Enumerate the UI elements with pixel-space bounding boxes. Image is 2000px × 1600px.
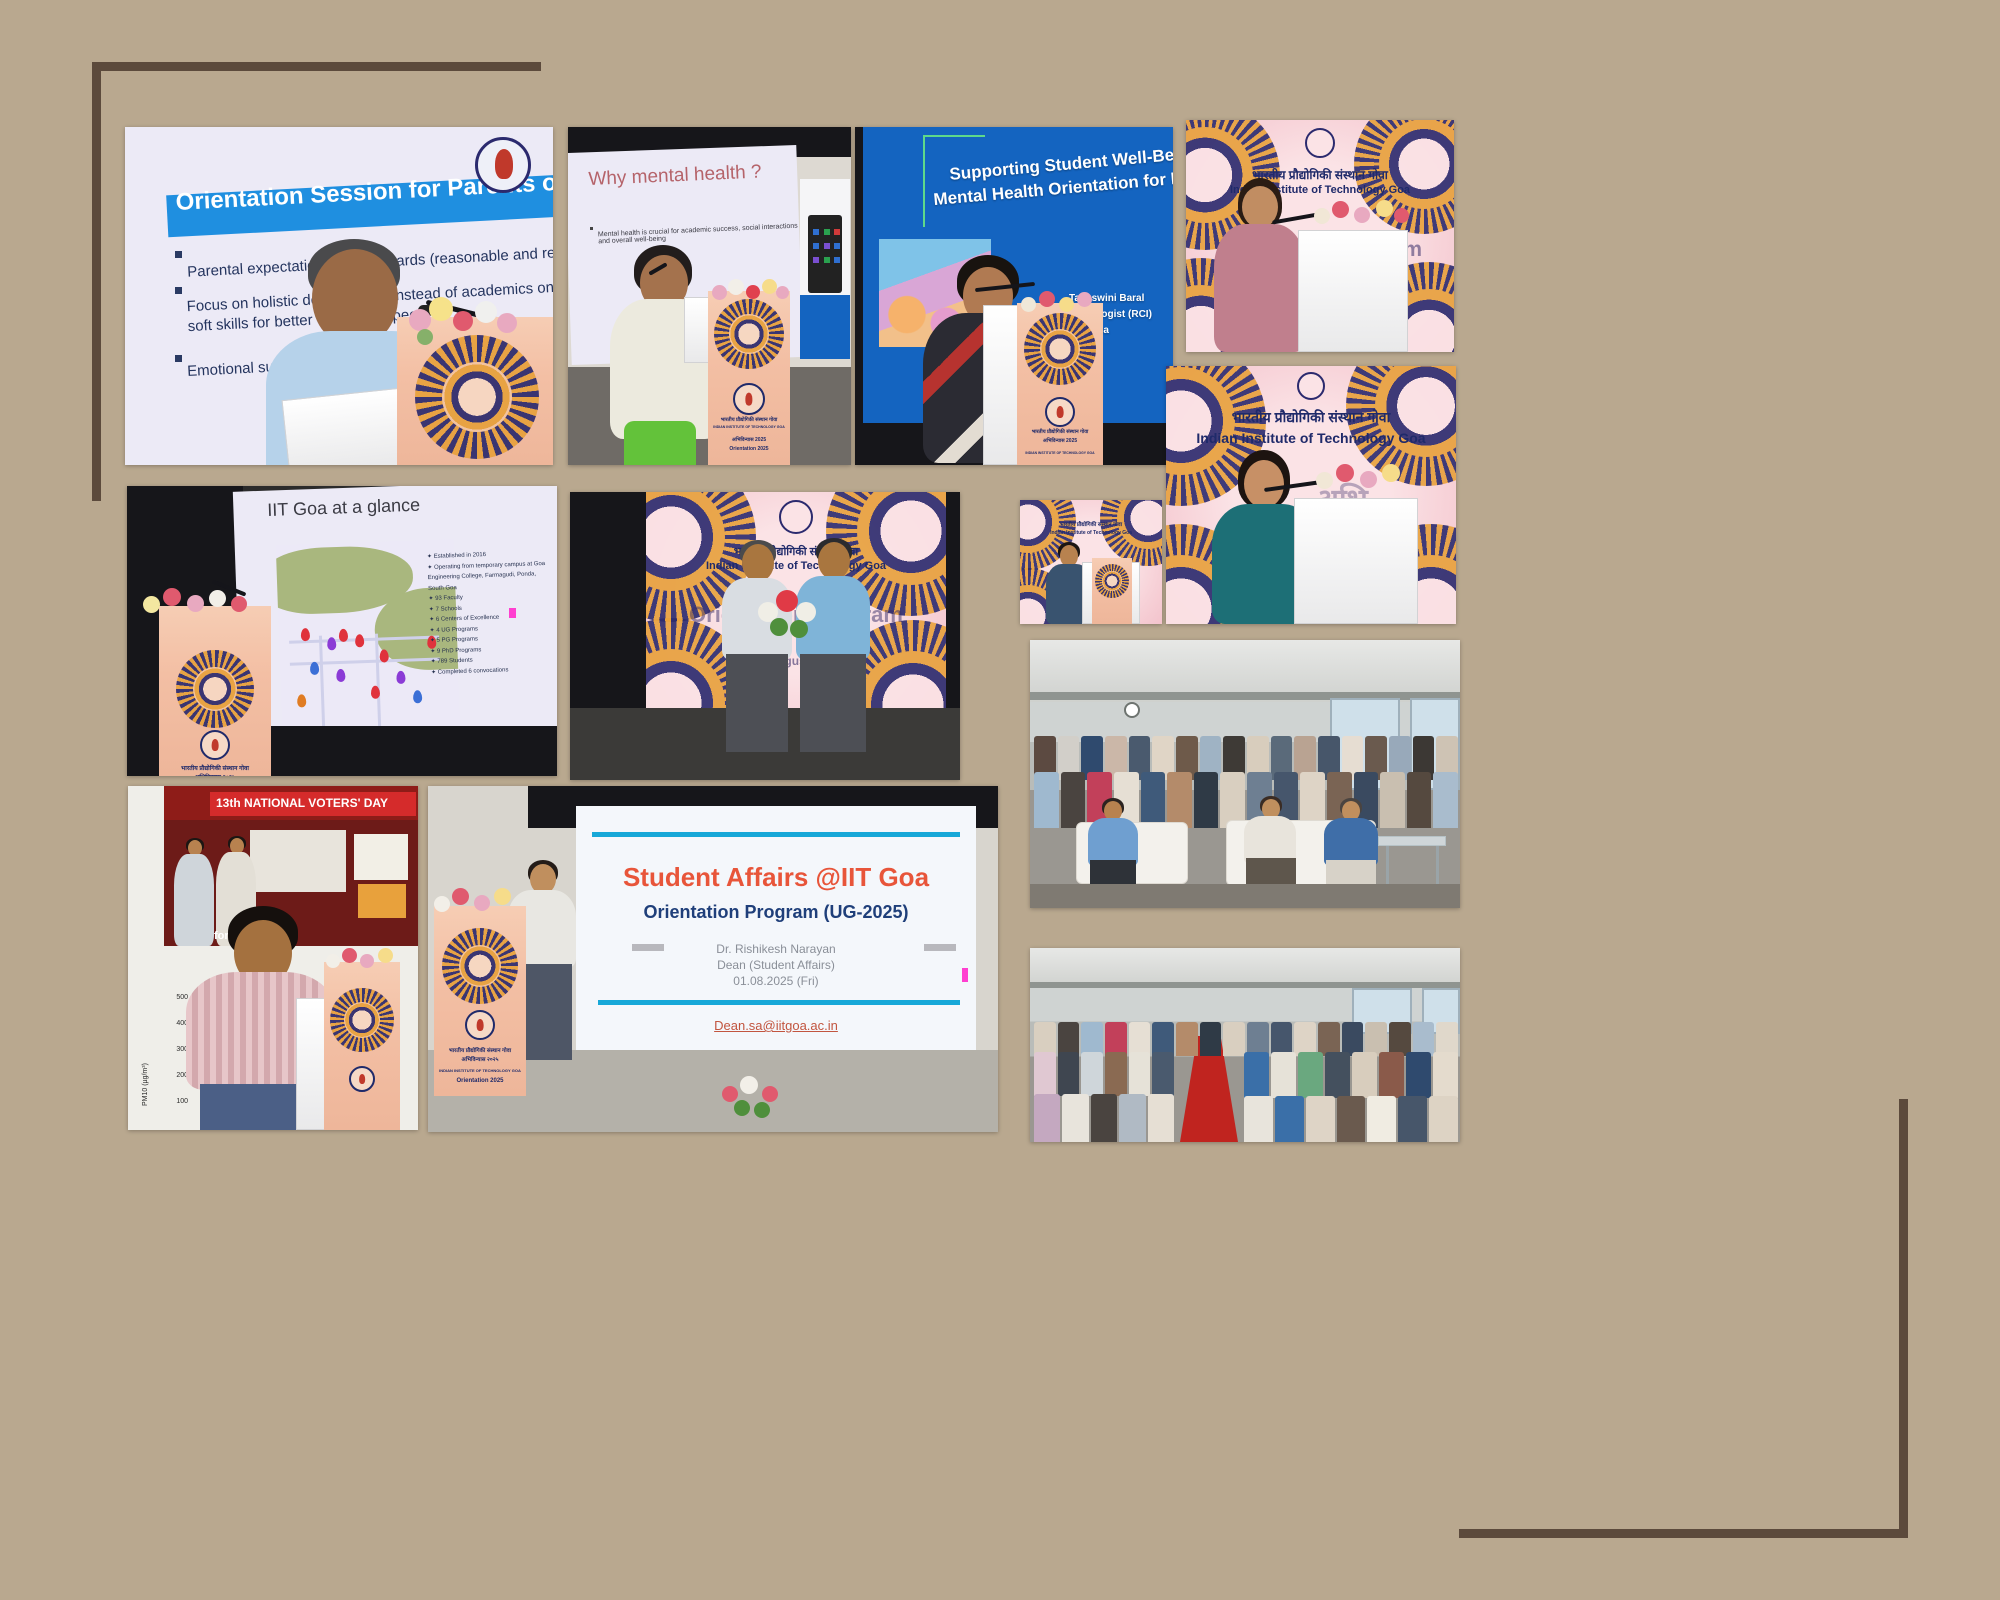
banner-line-hi: भारतीय प्रौद्योगिकी संस्थान गोवा [1017,429,1103,435]
banner-event-en: Orientation 2025 [434,1078,526,1084]
slide-heading: Student Affairs @IIT Goa [576,862,976,893]
banner-event-hi: अभिविन्यास 2025 [1017,438,1103,444]
flower-arrangement [1316,462,1416,494]
podium-banner: भारतीय प्रौद्योगिकी संस्थान गोवा अभिविन्… [434,906,526,1096]
institute-crest-icon [779,500,813,534]
chart-axis-label: PM10 (µg/m³) [142,1063,149,1106]
bouquet [758,588,818,640]
photo-voterbot[interactable]: 13th NATIONAL VOTERS' DAY for “VoterBot”… [128,786,418,1130]
presentation-date: 01.08.2025 (Fri) [576,974,976,988]
photo-iit-goa-at-a-glance[interactable]: IIT Goa at a glance ✦ Established in 201… [127,486,557,776]
stage-flower-vase [720,1076,790,1128]
backdrop-line-hi: भारतीय प्रौद्योगिकी संस्थान गोवा [1166,408,1456,427]
photo-mental-health-banner[interactable]: Supporting Student Well-Being: A Mental … [855,127,1173,465]
flower-arrangement [1019,289,1103,317]
banner-line-hi: भारतीय प्रौद्योगिकी संस्थान गोवा [708,417,790,423]
front-guest-1 [1086,798,1140,884]
speaker-figure [1212,178,1308,352]
banner-line-en: INDIAN INSTITUTE OF TECHNOLOGY GOA [434,1068,526,1073]
person-right [792,538,874,752]
banner-event-hi: अभिविन्यास २०२५ [434,1055,526,1063]
student-affairs-slide: Student Affairs @IIT Goa Orientation Pro… [576,806,976,1050]
photo-audience-red-carpet[interactable] [1030,948,1460,1142]
slide-bullet-list: ✦ Established in 2016 ✦ Operating from t… [427,548,549,678]
photo-audience-seated[interactable] [1030,640,1460,908]
audience-row-1 [1034,1022,1458,1056]
event-title: 13th NATIONAL VOTERS' DAY [216,796,388,810]
person-left [718,540,796,752]
banner-event-hi: अभिविन्यास 2025 [708,437,790,443]
audience-row-5 [1244,1096,1458,1142]
presenter-role: Dean (Student Affairs) [576,958,976,972]
photo-speaker-pink-backdrop-2[interactable]: भारतीय प्रौद्योगिकी संस्थान गोवा Indian … [1166,366,1456,624]
podium [1298,230,1408,352]
contact-email[interactable]: Dean.sa@iitgoa.ac.in [576,1018,976,1033]
flower-arrangement [143,586,253,618]
front-guest-3 [1322,798,1380,888]
podium-banner: भारतीय प्रौद्योगिकी संस्थान गोवा अभिविन्… [1017,303,1103,465]
photo-speaker-pink-backdrop-1[interactable]: भारतीय प्रौद्योगिकी संस्थान गोवा Indian … [1186,120,1454,352]
backdrop-line-hi: भारतीय प्रौद्योगिकी संस्थान गोवा [1020,520,1162,528]
photo-orientation-parents[interactable]: Orientation Session for Parents of UG-20… [125,127,553,465]
audience-row-3 [1244,1052,1458,1098]
bullet-2: ✦ Operating from temporary campus at Goa… [427,558,546,594]
podium-banner [324,962,400,1130]
banner-line-hi: भारतीय प्रौद्योगिकी संस्थान गोवा [434,1046,526,1054]
banner-event-hi: अभिविन्यास २०२५ [159,773,271,776]
photo-small-podium[interactable]: भारतीय प्रौद्योगिकी संस्थान गोवा Indian … [1020,500,1162,624]
audience-row-2 [1034,1052,1174,1096]
flower-arrangement [1314,198,1410,228]
flower-arrangement [710,277,790,305]
backdrop-line-en: Indian Institute of Technology Goa [1166,430,1456,446]
photo-collage: Orientation Session for Parents of UG-20… [0,0,2000,1600]
slide-subheading: Orientation Program (UG-2025) [576,902,976,923]
photo-student-affairs[interactable]: Student Affairs @IIT Goa Orientation Pro… [428,786,998,1132]
flower-arrangement [405,295,525,355]
podium-banner [1092,558,1132,624]
photo-why-mental-health[interactable]: Why mental health ? Mental health is cru… [568,127,851,465]
front-guest-2 [1242,796,1298,886]
banner-line-en: INDIAN INSTITUTE OF TECHNOLOGY GOA [1017,451,1103,455]
banner-line-en: INDIAN INSTITUTE OF TECHNOLOGY GOA [708,425,790,429]
wall-clock-icon [1124,702,1140,718]
flower-arrangement [326,946,400,972]
photo-felicitation[interactable]: भारतीय प्रौद्योगिकी संस्थान गोवा Indian … [570,492,960,780]
institute-crest-icon [1305,128,1335,158]
podium-banner: भारतीय प्रौद्योगिकी संस्थान गोवा अभिविन्… [159,606,271,776]
podium [1294,498,1418,624]
glass-table [1378,836,1446,846]
backdrop-line-en: Indian Institute of Technology Goa [1020,530,1162,536]
podium-banner: भारतीय प्रौद्योगिकी संस्थान गोवा INDIAN … [708,291,790,465]
banner-line-hi: भारतीय प्रौद्योगिकी संस्थान गोवा [159,764,271,772]
flower-arrangement [434,886,526,916]
banner-event-en: Orientation 2025 [708,446,790,452]
audience-row-4 [1034,1094,1174,1142]
institute-crest-icon [1297,372,1325,400]
